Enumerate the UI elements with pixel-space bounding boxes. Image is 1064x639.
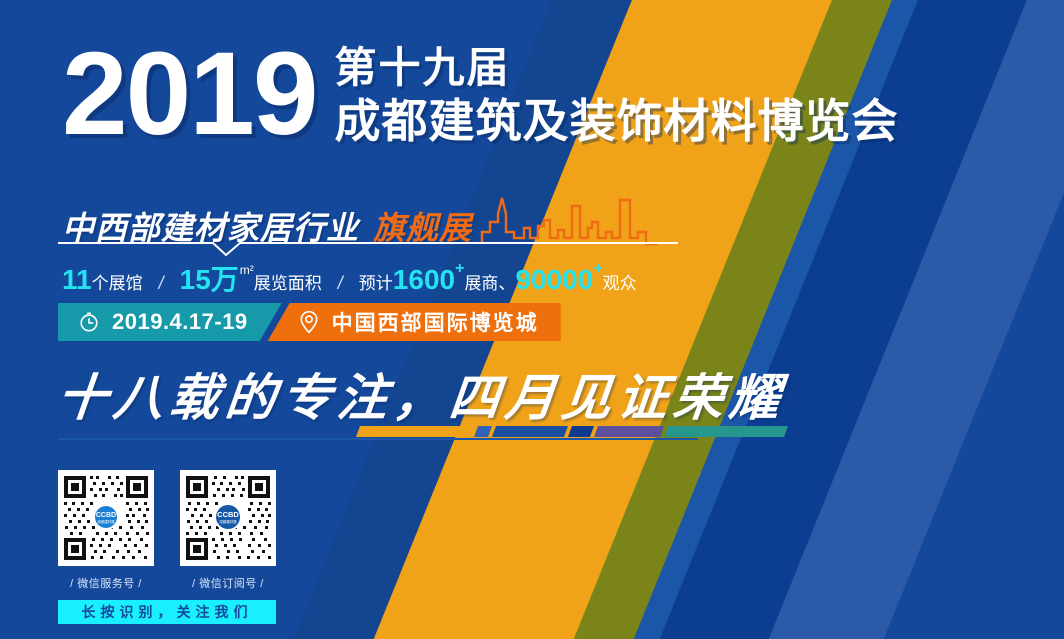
follow-us-button[interactable]: 长按识别，关注我们 xyxy=(58,600,276,624)
venue-badge[interactable]: 中国西部国际博览城 xyxy=(268,303,561,341)
slogan-block: 十八载的专注，四月见证荣耀 xyxy=(58,358,708,424)
stat-exhibitors-number: 1600 xyxy=(393,264,455,295)
color-bar-segment-blue-small xyxy=(474,426,492,437)
color-bar-baseline xyxy=(58,438,698,440)
stat-area-unit: m² xyxy=(240,263,254,277)
color-bar-segment-dark-blue xyxy=(492,426,568,437)
qr-block-service: CCBD 成都建材展 / 微信服务号 / xyxy=(58,470,154,591)
svg-text:成都建材展: 成都建材展 xyxy=(220,519,238,524)
exhibition-poster: 2019 第十九届 成都建筑及装饰材料博览会 中西部建材家居行业 旗舰展 xyxy=(0,0,1064,639)
qr-subscription-caption: / 微信订阅号 / xyxy=(180,575,276,591)
qr-service-caption: / 微信服务号 / xyxy=(58,575,154,591)
svg-text:CCBD: CCBD xyxy=(217,510,239,519)
stats-row: 11个展馆 / 15万m²展览面积 / 预计1600+展商、90000+观众 xyxy=(62,258,637,298)
stat-area: 15万m²展览面积 xyxy=(180,258,322,298)
location-pin-icon xyxy=(298,310,320,334)
subtitle-underline xyxy=(58,240,698,258)
stat-exhibitors-label: 展商、 xyxy=(464,274,515,293)
poster-title: 2019 第十九届 成都建筑及装饰材料博览会 xyxy=(62,38,899,150)
stat-visitors-number: 90000 xyxy=(515,264,593,295)
stat-attendance: 预计1600+展商、90000+观众 xyxy=(359,264,637,296)
clock-icon xyxy=(78,311,100,333)
svg-text:CCBD: CCBD xyxy=(96,512,116,519)
stat-halls-label: 个展馆 xyxy=(92,274,143,293)
stat-separator-1: / xyxy=(159,273,164,294)
qr-section: CCBD 成都建材展 / 微信服务号 / xyxy=(58,470,302,624)
wechat-service-qr-icon[interactable]: CCBD 成都建材展 xyxy=(58,470,154,566)
color-bar-segment-navy xyxy=(568,426,594,437)
wechat-subscription-qr-icon[interactable]: CCBD 成都建材展 xyxy=(180,470,276,566)
stat-area-label: 展览面积 xyxy=(254,274,322,293)
svg-text:成都建材展: 成都建材展 xyxy=(98,519,116,524)
color-bar-segment-teal xyxy=(664,426,788,437)
venue-badge-label: 中国西部国际博览城 xyxy=(332,307,539,337)
date-badge[interactable]: 2019.4.17-19 xyxy=(58,303,282,341)
edition-text: 第十九届 xyxy=(335,44,899,92)
info-badges: 2019.4.17-19 中国西部国际博览城 xyxy=(58,303,561,341)
date-badge-label: 2019.4.17-19 xyxy=(112,309,248,335)
stat-area-number: 15万 xyxy=(180,264,239,295)
color-bar-segment-purple xyxy=(594,426,664,437)
stat-visitors-plus: + xyxy=(593,260,602,277)
color-bar-segment-orange xyxy=(356,426,472,437)
stat-halls-number: 11 xyxy=(62,264,92,295)
stat-exhibitors-plus: + xyxy=(455,260,464,277)
stat-visitors-label: 观众 xyxy=(603,274,637,293)
stat-halls: 11个展馆 xyxy=(62,264,143,296)
color-bar xyxy=(58,426,698,440)
stat-estimate-prefix: 预计 xyxy=(359,274,393,293)
stat-separator-2: / xyxy=(338,273,343,294)
qr-block-subscription: CCBD 成都建材展 / 微信订阅号 / xyxy=(180,470,276,591)
year-text: 2019 xyxy=(62,38,317,150)
event-name-text: 成都建筑及装饰材料博览会 xyxy=(335,94,899,149)
slogan-text: 十八载的专注，四月见证荣耀 xyxy=(54,358,712,430)
